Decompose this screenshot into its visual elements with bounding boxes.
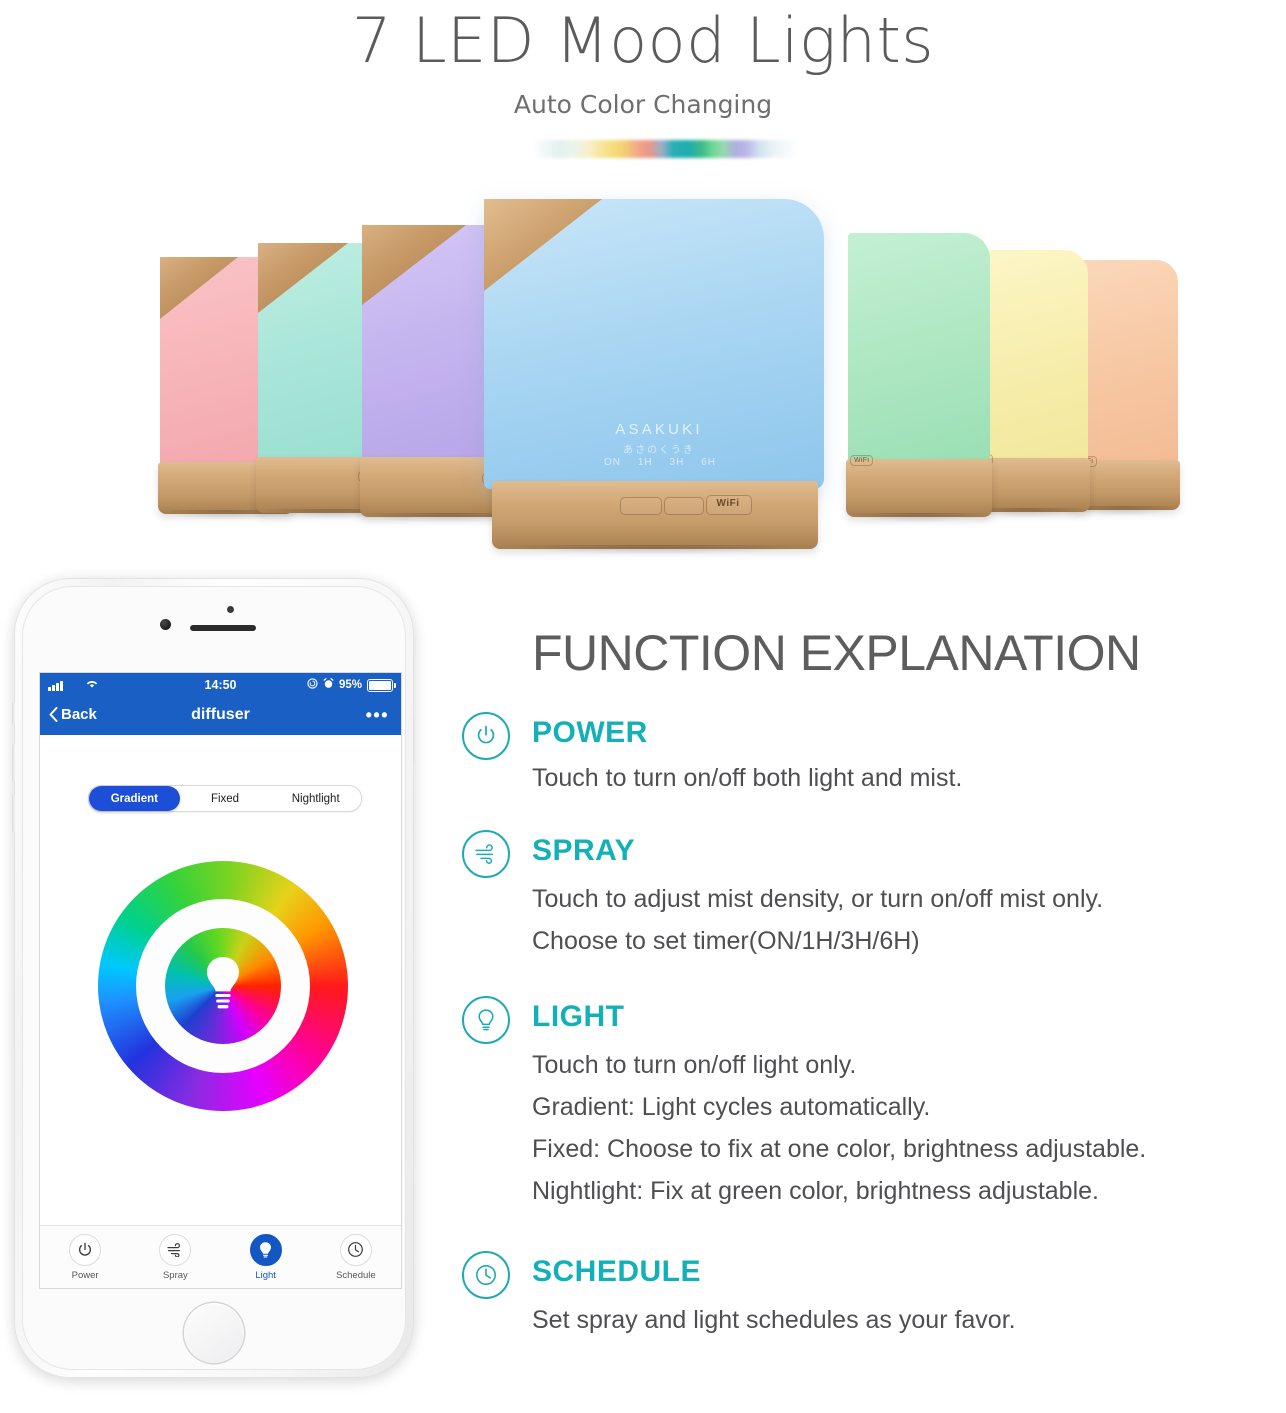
- feature-light-line-1: Touch to turn on/off light only.: [532, 1051, 856, 1080]
- more-options-button[interactable]: •••: [366, 705, 389, 726]
- product-lineup: WiFi WiFi WiFi WiFi WiFi ASAKUKI あさのくうき …: [0, 185, 1286, 565]
- volume-up-button[interactable]: [12, 744, 15, 782]
- segment-gradient[interactable]: Gradient: [89, 786, 180, 811]
- page-subtitle: Auto Color Changing: [0, 90, 1286, 119]
- wifi-button-label: WiFi: [706, 498, 750, 509]
- function-explanation-panel: FUNCTION EXPLANATION POWER Touch to turn…: [440, 600, 1286, 1400]
- feature-power-line-1: Touch to turn on/off both light and mist…: [532, 764, 962, 793]
- battery-percent-label: 95%: [339, 679, 362, 691]
- app-tab-bar[interactable]: Power Spray: [40, 1225, 401, 1288]
- tab-spray-label: Spray: [163, 1270, 188, 1281]
- timer-label-1h: 1H: [638, 457, 653, 468]
- battery-icon: [367, 679, 393, 692]
- feature-light-heading: LIGHT: [532, 1000, 625, 1034]
- status-bar-right: 95%: [307, 678, 393, 692]
- mist-icon: [462, 830, 510, 878]
- segment-fixed[interactable]: Fixed: [180, 786, 271, 811]
- tab-schedule-label: Schedule: [336, 1270, 376, 1281]
- app-title: diffuser: [40, 706, 401, 724]
- clock-icon: [462, 1251, 510, 1299]
- diffuser-wood-base: [846, 459, 992, 517]
- proximity-sensor-icon: [227, 606, 234, 613]
- power-side-button[interactable]: [413, 718, 416, 764]
- status-bar: 14:50 95%: [40, 673, 401, 697]
- app-nav-bar: Back diffuser •••: [40, 697, 401, 735]
- feature-light-line-3: Fixed: Choose to fix at one color, brigh…: [532, 1135, 1146, 1164]
- rotation-lock-icon: [307, 678, 318, 692]
- timer-label-3h: 3H: [670, 457, 685, 468]
- feature-schedule-heading: SCHEDULE: [532, 1255, 701, 1289]
- bulb-icon: [250, 1234, 282, 1266]
- phone-mockup: 14:50 95% Back diffuser ••• Gr: [14, 578, 414, 1378]
- home-button[interactable]: [184, 1303, 244, 1363]
- power-icon: [462, 712, 510, 760]
- feature-power-heading: POWER: [532, 716, 648, 750]
- clock-icon: [340, 1234, 372, 1266]
- front-camera-icon: [160, 619, 171, 630]
- silent-switch-button[interactable]: [12, 702, 15, 724]
- tab-light[interactable]: Light: [221, 1226, 311, 1288]
- segment-nightlight[interactable]: Nightlight: [270, 786, 361, 811]
- feature-spray-line-1: Touch to adjust mist density, or turn on…: [532, 885, 1103, 914]
- bulb-icon: [462, 996, 510, 1044]
- light-bulb-icon[interactable]: [200, 955, 246, 1015]
- light-mode-segmented-control[interactable]: Gradient Fixed Nightlight: [88, 785, 362, 812]
- feature-light-line-2: Gradient: Light cycles automatically.: [532, 1093, 930, 1122]
- earpiece-speaker-icon: [190, 625, 256, 631]
- feature-light-line-4: Nightlight: Fix at green color, brightne…: [532, 1177, 1099, 1206]
- wifi-badge: WiFi: [850, 455, 873, 466]
- color-gradient-bar: [533, 140, 797, 158]
- phone-screen: 14:50 95% Back diffuser ••• Gr: [40, 673, 401, 1288]
- tab-light-label: Light: [255, 1270, 276, 1281]
- timer-label-on: ON: [604, 457, 621, 468]
- diffuser-wood-base: [492, 481, 818, 549]
- color-wheel-picker[interactable]: [80, 843, 365, 1128]
- tab-power[interactable]: Power: [40, 1226, 130, 1288]
- power-icon: [69, 1234, 101, 1266]
- timer-indicator-row: ON 1H 3H 6H: [604, 457, 716, 468]
- feature-spray-line-2: Choose to set timer(ON/1H/3H/6H): [532, 927, 920, 956]
- diffuser-green: WiFi: [848, 233, 990, 515]
- tab-spray[interactable]: Spray: [130, 1226, 220, 1288]
- timer-label-6h: 6H: [701, 457, 716, 468]
- feature-schedule-line-1: Set spray and light schedules as your fa…: [532, 1306, 1016, 1335]
- mist-icon: [159, 1234, 191, 1266]
- diffuser-hero-blue: ASAKUKI あさのくうき ON 1H 3H 6H WiFi: [484, 199, 824, 559]
- diffuser-shell: [848, 233, 990, 467]
- mist-button-slot[interactable]: [620, 497, 662, 515]
- alarm-clock-icon: [323, 678, 334, 692]
- feature-spray-heading: SPRAY: [532, 834, 635, 868]
- header-banner: 7 LED Mood Lights Auto Color Changing: [0, 0, 1286, 185]
- section-title: FUNCTION EXPLANATION: [532, 624, 1141, 682]
- product-brand: ASAKUKI: [579, 421, 739, 438]
- light-button-slot[interactable]: [664, 497, 704, 515]
- tab-power-label: Power: [72, 1270, 99, 1281]
- volume-down-button[interactable]: [12, 794, 15, 832]
- product-brand-jp: あさのくうき: [579, 441, 739, 456]
- tab-schedule[interactable]: Schedule: [311, 1226, 401, 1288]
- page-title: 7 LED Mood Lights: [0, 4, 1286, 77]
